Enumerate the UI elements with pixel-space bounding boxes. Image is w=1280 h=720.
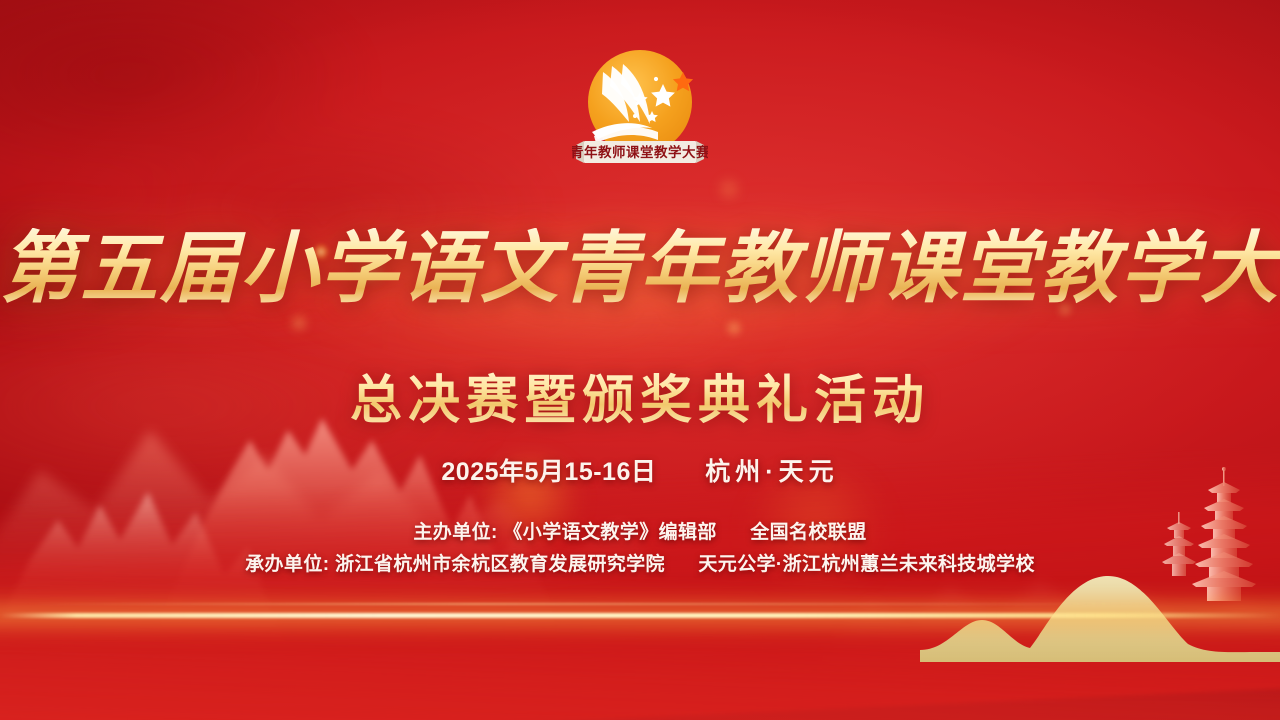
date-location-line: 2025年5月15-16日 杭州·天元 xyxy=(0,452,1280,488)
host-name-2: 天元公学·浙江杭州蕙兰未来科技城学校 xyxy=(698,554,1035,575)
poster-canvas: 青年教师课堂教学大赛 第五届小学语文青年教师课堂教学大赛 总决赛暨颁奖典礼活动 … xyxy=(0,0,1280,720)
organizer-name-2: 全国名校联盟 xyxy=(750,522,866,543)
organizer-line: 主办单位: 《小学语文教学》编辑部 全国名校联盟 xyxy=(0,517,1280,544)
main-title: 第五届小学语文青年教师课堂教学大赛 xyxy=(0,228,1280,310)
event-place: 杭州·天元 xyxy=(705,458,838,486)
host-line: 承办单位: 浙江省杭州市余杭区教育发展研究学院 天元公学·浙江杭州蕙兰未来科技城… xyxy=(0,549,1280,576)
event-date: 2025年5月15-16日 xyxy=(441,458,656,486)
organizer-name-1: 《小学语文教学》编辑部 xyxy=(503,522,716,543)
host-label: 承办单位: xyxy=(245,554,329,575)
poster-content: 第五届小学语文青年教师课堂教学大赛 总决赛暨颁奖典礼活动 2025年5月15-1… xyxy=(0,0,1280,720)
sub-title: 总决赛暨颁奖典礼活动 xyxy=(0,358,1280,433)
organizer-label: 主办单位: xyxy=(413,522,497,543)
host-name-1: 浙江省杭州市余杭区教育发展研究学院 xyxy=(335,554,665,575)
